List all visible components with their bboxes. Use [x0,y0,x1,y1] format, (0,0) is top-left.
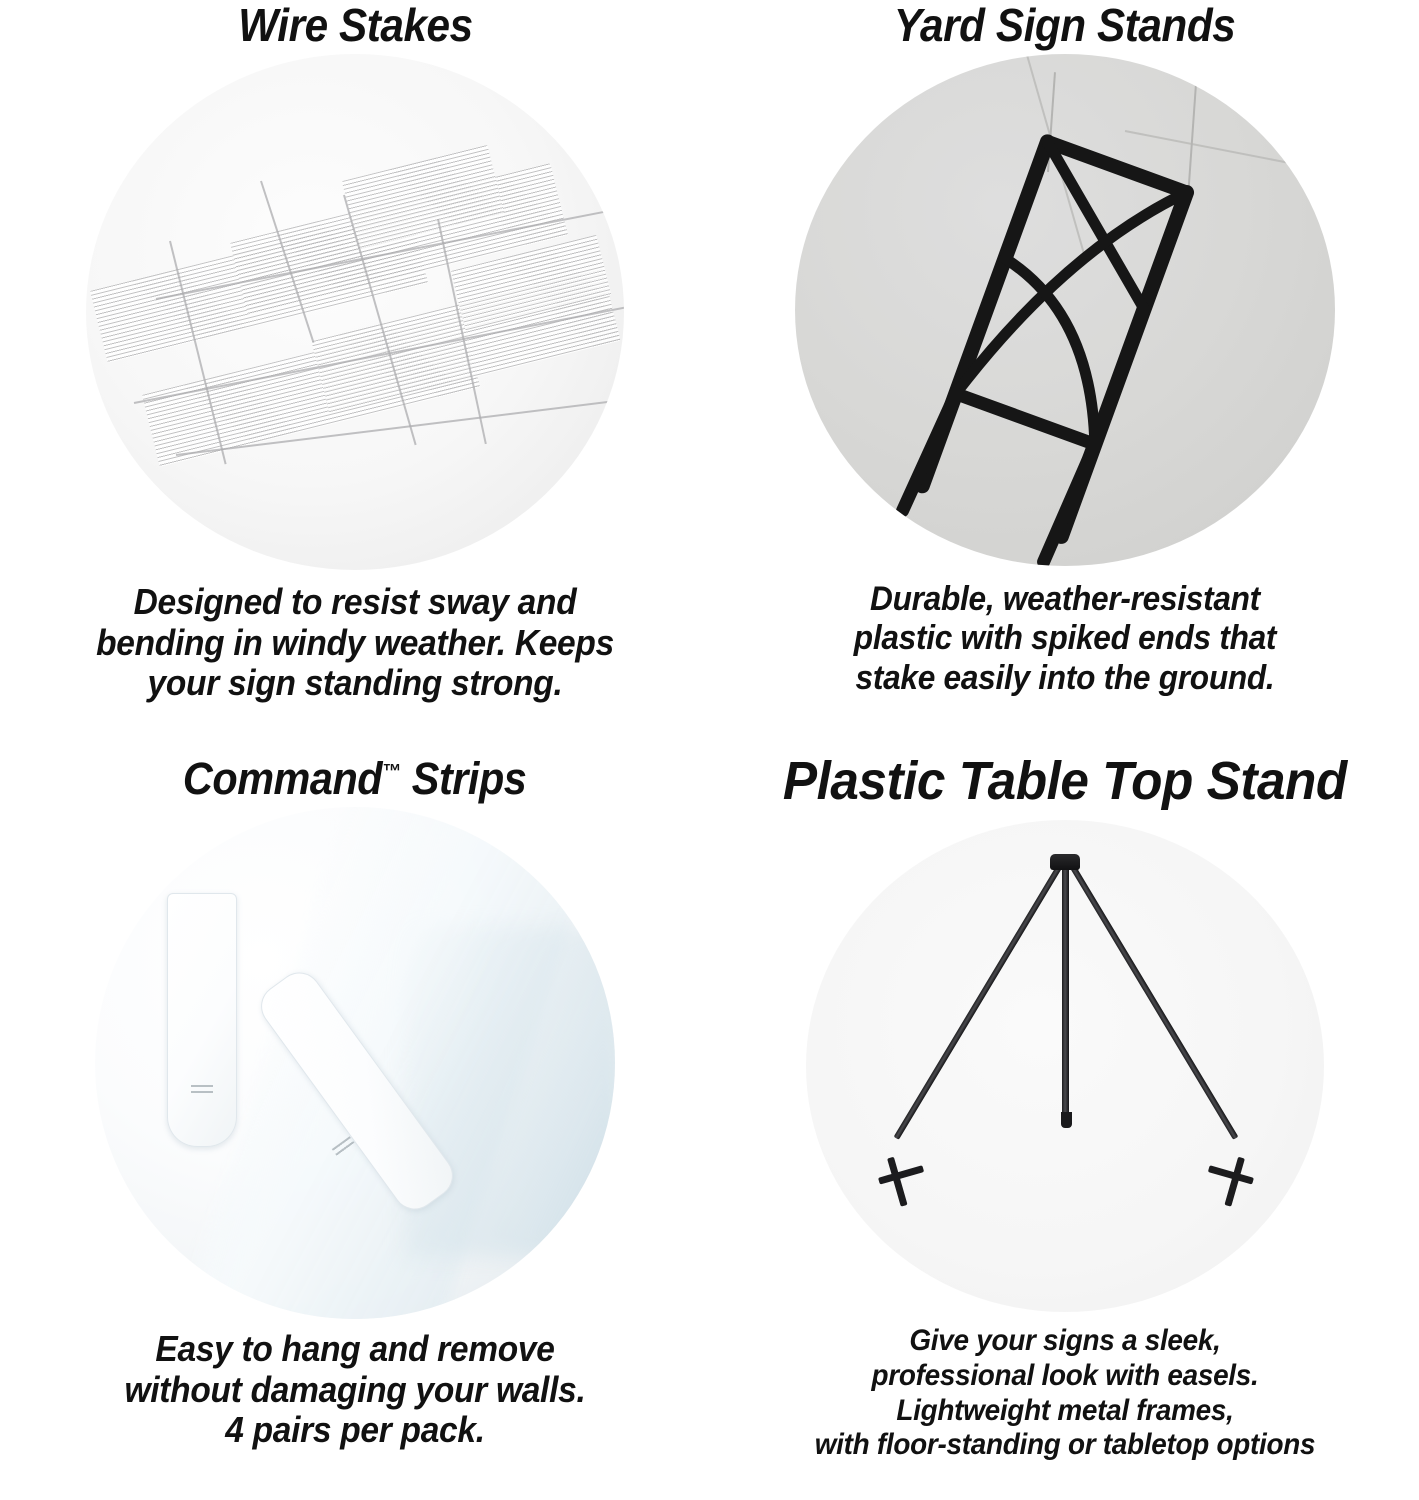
command-strips-photo [95,807,615,1319]
wire-stakes-photo [86,54,624,570]
easel-foot-left [873,1148,940,1215]
feature-card-plastic-table-top-stand: Plastic Table Top Stand Give your signs … [710,752,1419,1500]
card-title-command-strips: Command™ Strips [183,756,526,801]
caption-line: Designed to resist sway and [57,582,652,623]
card-title-command-prefix: Command [183,753,382,804]
caption-line: without damaging your walls. [57,1370,652,1411]
command-strip-logo [191,1085,213,1103]
yard-sign-stand-frame [795,54,1335,566]
caption-line: 4 pairs per pack. [57,1410,652,1451]
blue-tint-overlay [405,927,615,1257]
easel-leg-right [1068,862,1238,1139]
easel-foot-right [1191,1148,1258,1215]
caption-line: your sign standing strong. [57,663,652,704]
feature-card-command-strips: Command™ Strips Easy to hang and remove … [0,752,710,1500]
caption-line: with floor-standing or tabletop options [758,1428,1372,1463]
caption-line: plastic with spiked ends that [776,619,1353,658]
feature-card-wire-stakes: Wire Stakes Designed to resist sway and … [0,0,710,752]
card-title-wire-stakes: Wire Stakes [238,2,472,48]
trademark-icon: ™ [382,761,401,783]
card-caption-yard-sign-stands: Durable, weather-resistant plastic with … [776,580,1353,698]
card-caption-wire-stakes: Designed to resist sway and bending in w… [57,582,652,704]
caption-line: Give your signs a sleek, [758,1324,1372,1359]
command-strip [167,893,237,1147]
table-top-easel-photo [806,820,1324,1312]
card-title-command-suffix: Strips [401,753,527,804]
caption-line: Easy to hang and remove [57,1329,652,1370]
product-feature-sheet: Wire Stakes Designed to resist sway and … [0,0,1419,1500]
caption-line: stake easily into the ground. [776,659,1353,698]
easel-center-leg-tip [1061,1112,1072,1128]
caption-line: Lightweight metal frames, [758,1394,1372,1429]
card-caption-plastic-table-top-stand: Give your signs a sleek, professional lo… [758,1324,1372,1463]
easel-leg-center [1062,866,1069,1118]
card-title-yard-sign-stands: Yard Sign Stands [894,2,1235,48]
card-caption-command-strips: Easy to hang and remove without damaging… [57,1329,652,1451]
caption-line: bending in windy weather. Keeps [57,623,652,664]
yard-sign-stand-photo [795,54,1335,566]
caption-line: Durable, weather-resistant [776,580,1353,619]
card-title-plastic-table-top-stand: Plastic Table Top Stand [783,754,1347,808]
easel-leg-left [893,862,1063,1139]
caption-line: professional look with easels. [758,1359,1372,1394]
feature-grid: Wire Stakes Designed to resist sway and … [0,0,1419,1500]
feature-card-yard-sign-stands: Yard Sign Stands [710,0,1419,752]
easel-top-collar [1050,854,1080,870]
